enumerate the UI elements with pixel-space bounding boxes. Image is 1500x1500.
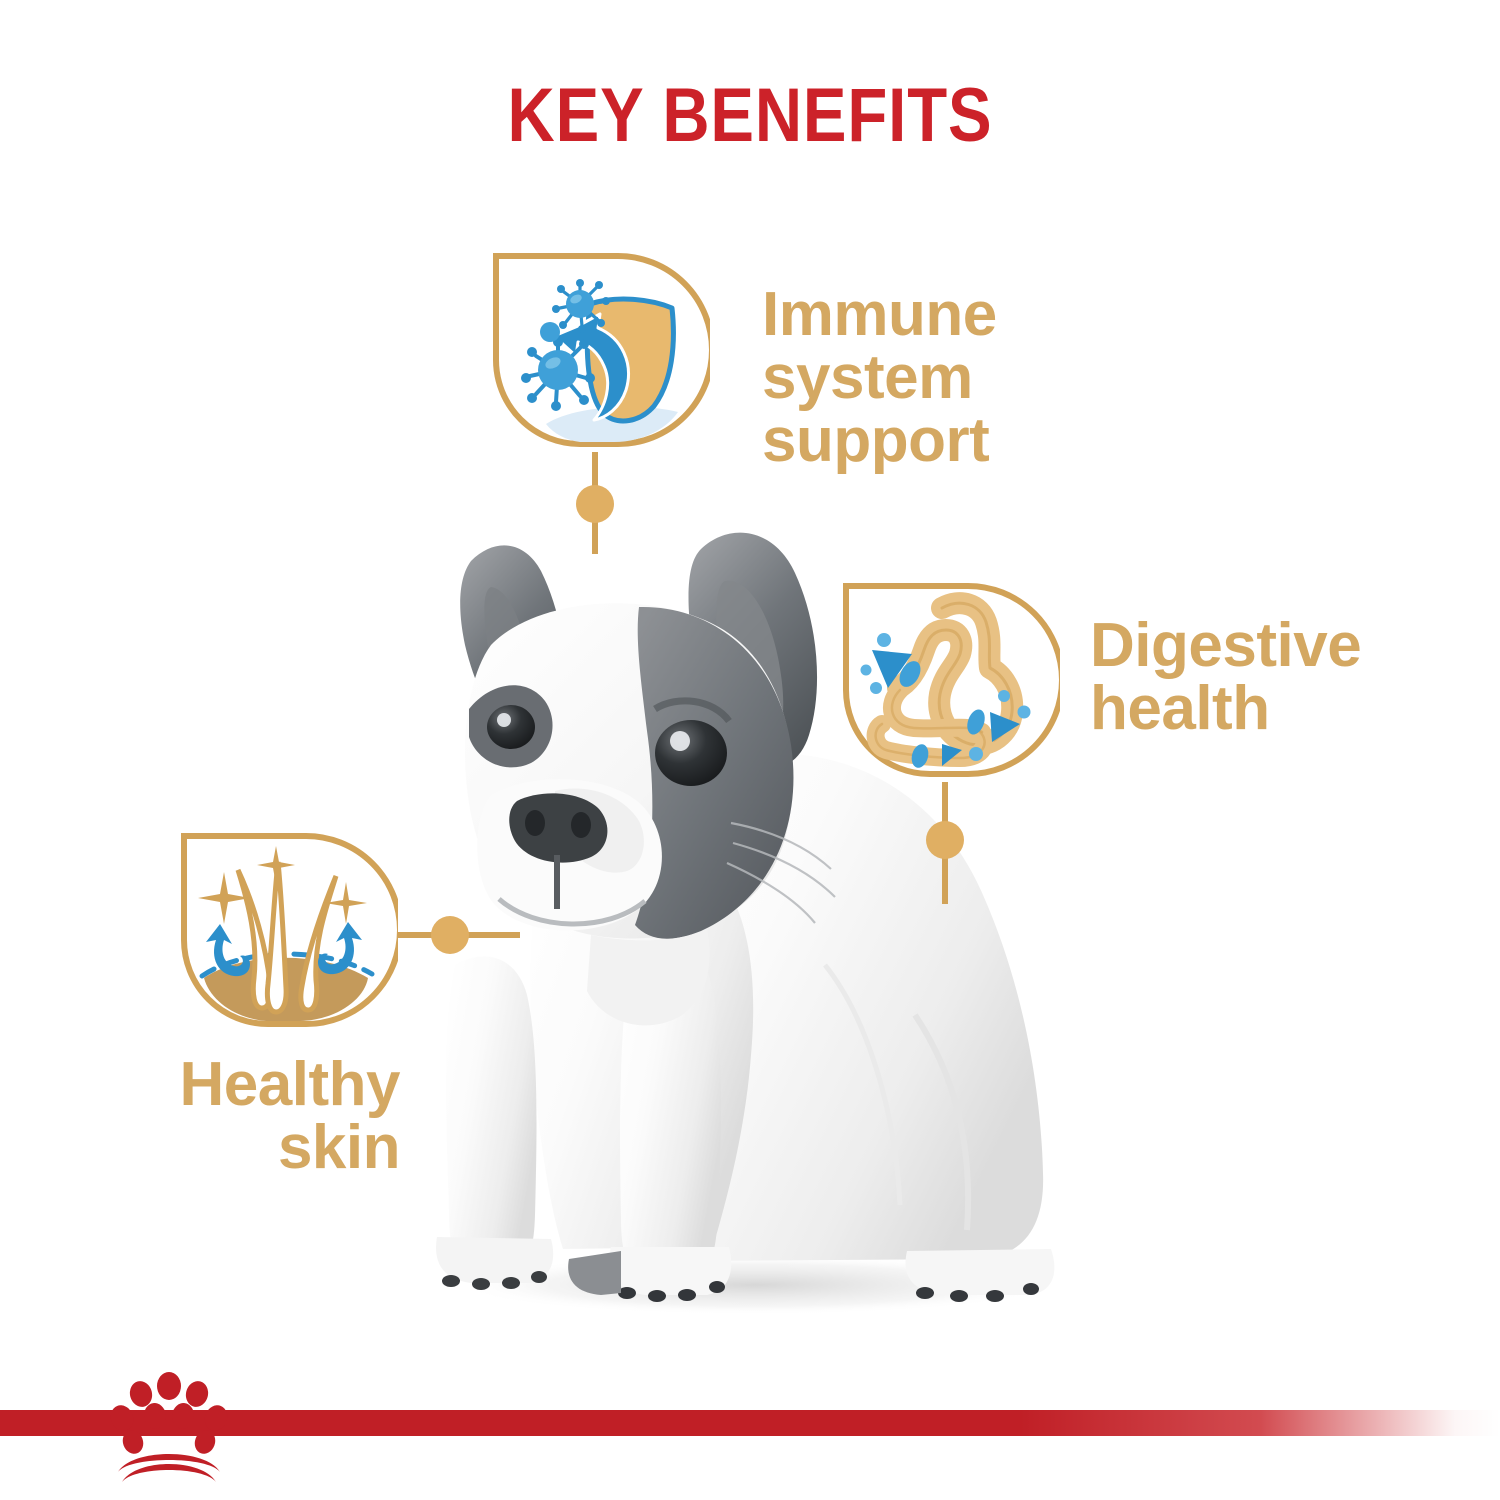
immune-shield-icon	[488, 248, 710, 460]
page-title: KEY BENEFITS	[105, 78, 1395, 154]
key-benefits-infographic: KEY BENEFITS	[0, 0, 1500, 1500]
dog-eye-right	[655, 720, 727, 786]
virus-dot	[540, 322, 560, 342]
benefit-digestive-label: Digestive health	[1090, 614, 1361, 740]
connector-immune	[563, 452, 627, 560]
digestive-stomach-icon	[838, 578, 1060, 790]
dog-nostril-left	[525, 810, 545, 836]
connector-skin	[386, 905, 526, 965]
dog-eye-left-highlight	[497, 713, 511, 727]
healthy-skin-icon	[176, 828, 398, 1040]
dog-eye-right-highlight	[670, 731, 690, 751]
connector-digestive	[913, 782, 977, 910]
dog-nostril-right	[571, 812, 591, 838]
dog-front-left-leg	[446, 956, 537, 1263]
royal-canin-crown-logo	[108, 1372, 230, 1484]
benefit-immune-label: Immune system support	[762, 283, 997, 473]
benefit-skin-label: Healthy skin	[40, 1053, 400, 1179]
dog-eye-left	[487, 705, 535, 749]
